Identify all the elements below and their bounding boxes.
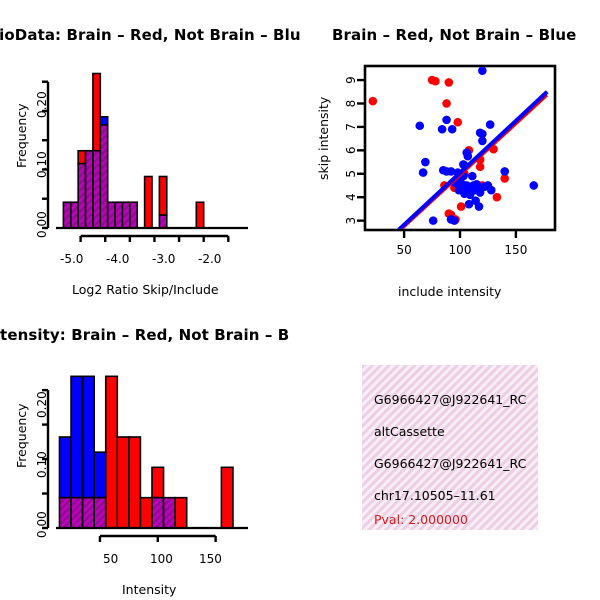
annotation-pval: Pval: 2.000000 [374, 512, 468, 527]
svg-text:50: 50 [396, 243, 411, 257]
panel-scatter: Brain – Red, Not Brain – Blue skip inten… [300, 0, 600, 300]
hist-ratio-plot [0, 0, 300, 300]
svg-text:100: 100 [449, 243, 472, 257]
svg-text:9: 9 [344, 76, 358, 84]
svg-text:3: 3 [344, 217, 358, 225]
annotation-line-1: G6966427@J922641_RC [374, 392, 526, 407]
annotation-line-3: G6966427@J922641_RC [374, 456, 526, 471]
panel-annotation: G6966427@J922641_RC altCassette G6966427… [362, 365, 538, 530]
panel-hist-ratio: RatioData: Brain – Red, Not Brain – Blu … [0, 0, 300, 300]
svg-text:150: 150 [504, 243, 527, 257]
hist-intensity-plot [0, 300, 300, 600]
scatter-plot: 345678950100150 [300, 0, 600, 300]
svg-text:7: 7 [344, 123, 358, 131]
annotation-hatch-background [362, 365, 538, 530]
annotation-line-4: chr17.10505–11.61 [374, 488, 496, 503]
svg-text:4: 4 [344, 193, 358, 201]
svg-text:5: 5 [344, 170, 358, 178]
svg-text:8: 8 [344, 100, 358, 108]
panel-hist-intensity: ne Itensity: Brain – Red, Not Brain – B … [0, 300, 300, 600]
annotation-line-2: altCassette [374, 424, 445, 439]
svg-text:6: 6 [344, 147, 358, 155]
